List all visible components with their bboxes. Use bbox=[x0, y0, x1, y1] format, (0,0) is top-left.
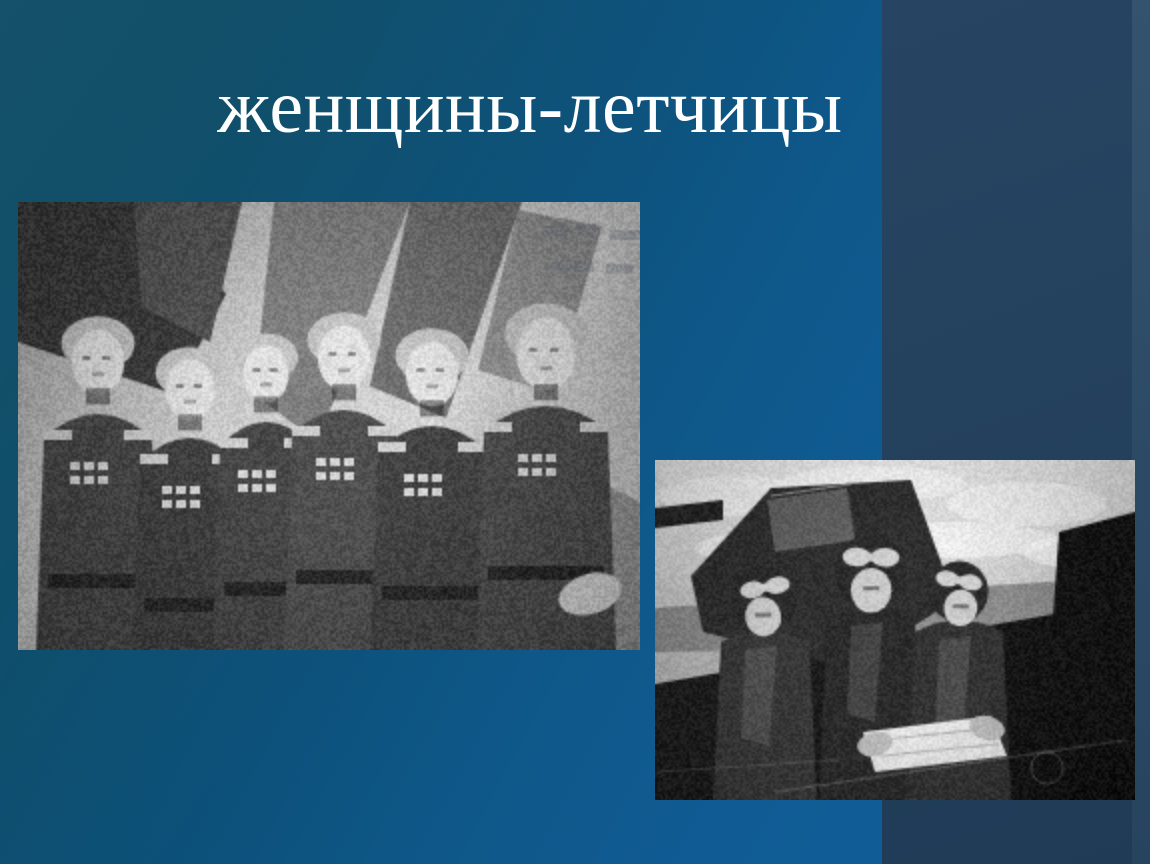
presentation-slide: женщины-летчицы bbox=[0, 0, 1150, 864]
photo-pilots-group bbox=[18, 202, 640, 650]
slide-title: женщины-летчицы bbox=[0, 68, 1060, 148]
photo-map-reading bbox=[655, 460, 1135, 800]
